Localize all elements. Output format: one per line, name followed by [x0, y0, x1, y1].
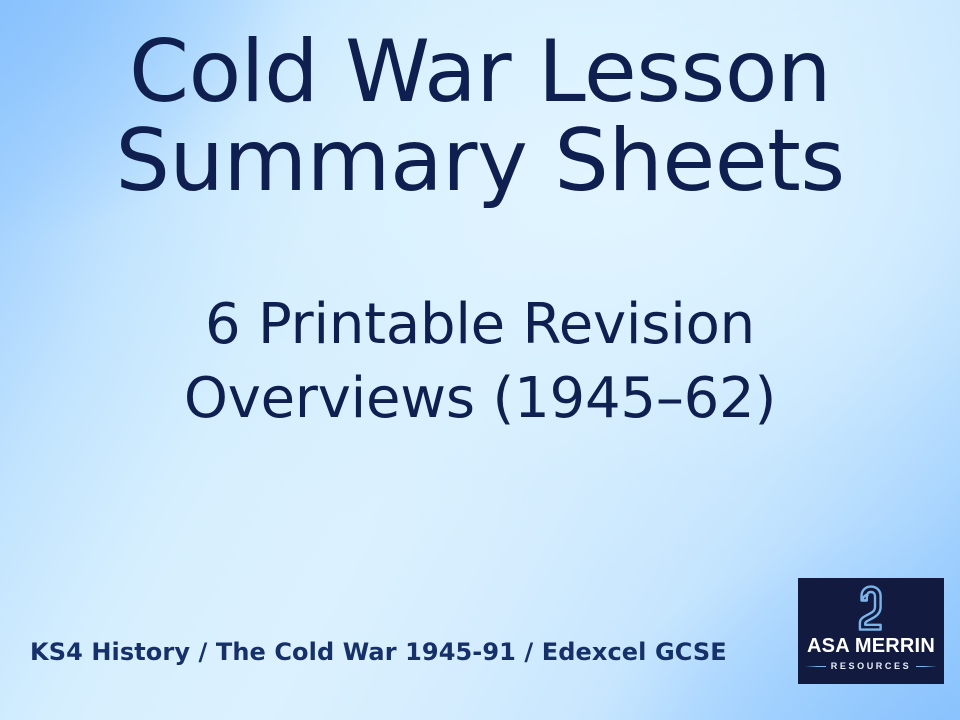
slide-subtitle: 6 Printable Revision Overviews (1945–62) — [0, 288, 960, 437]
tagline-rule-left — [805, 666, 826, 667]
presentation-slide: Cold War Lesson Summary Sheets 6 Printab… — [0, 0, 960, 720]
knight-chess-piece-icon — [848, 583, 894, 633]
tagline-rule-right — [916, 666, 937, 667]
brand-wordmark: ASA MERRIN — [807, 636, 935, 656]
slide-footer-caption: KS4 History / The Cold War 1945-91 / Ede… — [30, 638, 727, 666]
slide-title-line-1: Cold War Lesson — [0, 28, 960, 117]
slide-title: Cold War Lesson Summary Sheets — [0, 28, 960, 205]
slide-subtitle-line-1: 6 Printable Revision — [0, 288, 960, 362]
slide-content: Cold War Lesson Summary Sheets 6 Printab… — [0, 0, 960, 720]
slide-title-line-2: Summary Sheets — [0, 117, 960, 206]
brand-tagline: RESOURCES — [831, 662, 911, 671]
brand-tagline-row: RESOURCES — [805, 662, 937, 671]
slide-subtitle-line-2: Overviews (1945–62) — [0, 362, 960, 436]
brand-logo: ASA MERRIN RESOURCES — [798, 578, 944, 684]
